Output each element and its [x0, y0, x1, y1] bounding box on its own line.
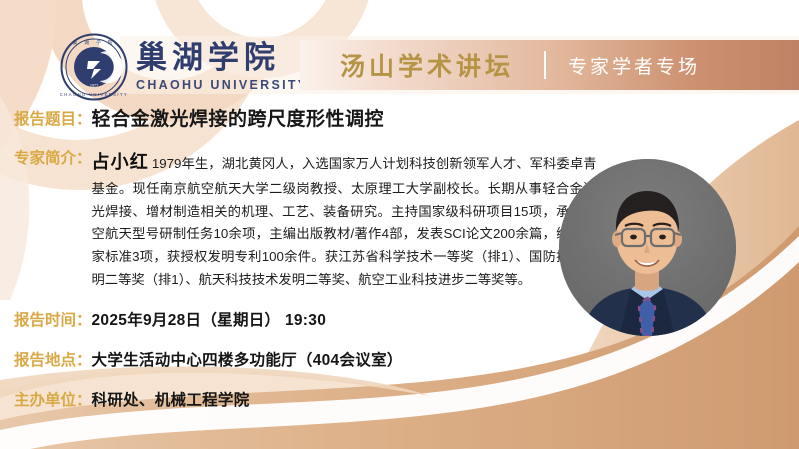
university-name-en: CHAOHU UNIVERSITY — [136, 78, 308, 92]
time-label: 报告时间： — [14, 309, 92, 332]
time-value: 2025年9月28日（星期日） 19:30 — [92, 309, 327, 332]
chaohu-university-seal-icon: 1977 巢 湖 学 院 CHAOHU UNIVERSITY — [60, 33, 128, 101]
speaker-portrait-photo — [559, 159, 736, 336]
topic-value: 轻合金激光焊接的跨尺度形性调控 — [92, 108, 385, 133]
organizer-value: 科研处、机械工程学院 — [92, 389, 250, 412]
event-banner: 汤山学术讲坛 专家学者专场 — [300, 40, 799, 90]
organizer-label: 主办单位： — [14, 389, 92, 412]
banner-title: 汤山学术讲坛 — [340, 47, 514, 83]
place-value: 大学生活动中心四楼多功能厅（404会议室） — [92, 349, 403, 372]
topic-row: 报告题目： 轻合金激光焊接的跨尺度形性调控 — [0, 108, 799, 133]
banner-divider — [544, 51, 546, 79]
speaker-bio-block: 占小红1979年生，湖北黄冈人，入选国家万人计划科技创新领军人才、军科委卓青基金… — [92, 147, 597, 292]
speaker-name: 占小红 — [92, 152, 149, 172]
svg-text:巢 湖 学 院: 巢 湖 学 院 — [73, 39, 116, 46]
svg-text:CHAOHU UNIVERSITY: CHAOHU UNIVERSITY — [60, 92, 128, 97]
place-row: 报告地点： 大学生活动中心四楼多功能厅（404会议室） — [0, 349, 799, 372]
organizer-row: 主办单位： 科研处、机械工程学院 — [0, 389, 799, 412]
speaker-bio-text: 1979年生，湖北黄冈人，入选国家万人计划科技创新领军人才、军科委卓青基金。现任… — [92, 156, 597, 287]
place-label: 报告地点： — [14, 349, 92, 372]
university-name-cn: 巢湖学院 — [136, 42, 308, 75]
poster-header: 1977 巢 湖 学 院 CHAOHU UNIVERSITY 巢湖学院 CHAO… — [0, 0, 799, 104]
svg-text:1977: 1977 — [90, 83, 98, 88]
university-logo-block: 1977 巢 湖 学 院 CHAOHU UNIVERSITY 巢湖学院 CHAO… — [60, 33, 308, 101]
speaker-label: 专家简介： — [14, 147, 92, 170]
portrait-illustration — [559, 159, 736, 336]
banner-subtitle: 专家学者专场 — [568, 52, 700, 79]
seminar-poster: 1977 巢 湖 学 院 CHAOHU UNIVERSITY 巢湖学院 CHAO… — [0, 0, 799, 449]
university-name-block: 巢湖学院 CHAOHU UNIVERSITY — [136, 42, 308, 92]
topic-label: 报告题目： — [14, 108, 92, 131]
